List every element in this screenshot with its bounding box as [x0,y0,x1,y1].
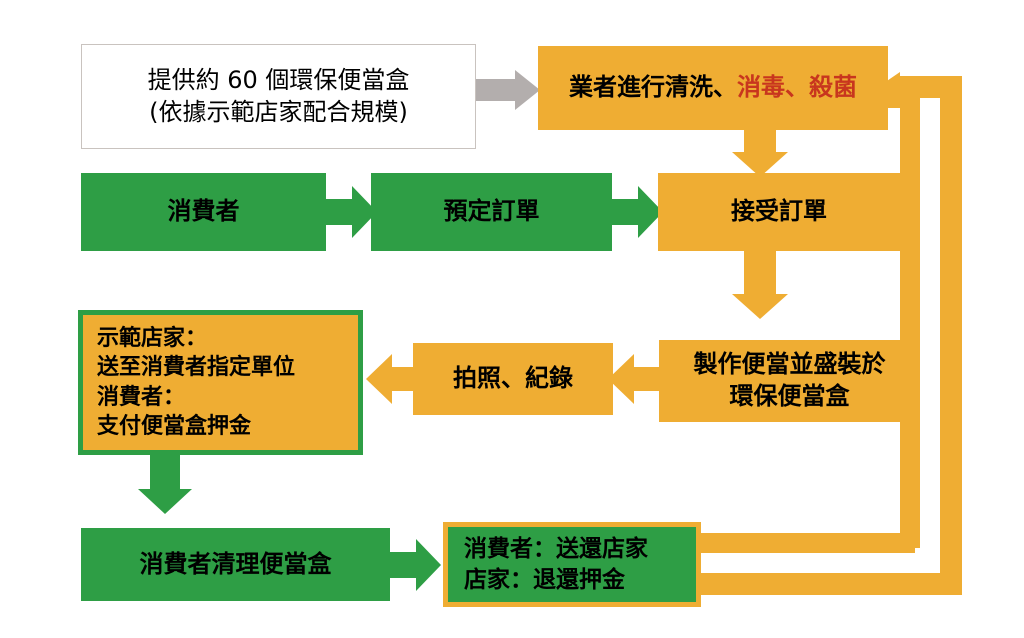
node-return-refund-line2: 店家：退還押金 [464,565,625,595]
node-deliver-deposit-line2: 送至消費者指定單位 [97,353,295,382]
connector-make-loop-vertical [900,108,920,548]
connector-accept-to-make-arrowhead [732,294,788,319]
node-consumer-label: 消費者 [168,196,240,228]
node-return-refund[interactable]: 消費者：送還店家 店家：退還押金 [443,522,701,607]
node-supply-boxes[interactable]: 提供約 60 個環保便當盒 (依據示範店家配合規模) [81,44,476,149]
connector-accept-to-make-shaft [744,250,776,298]
node-accept-order[interactable]: 接受訂單 [658,173,900,251]
connector-deliver-to-clean-arrowhead [138,489,192,514]
node-make-meal-line1: 製作便當並盛裝於 [694,349,886,381]
node-supply-boxes-line1: 提供約 60 個環保便當盒 [148,65,410,97]
node-vendor-clean-prefix: 業者進行清洗、 [569,73,737,101]
connector-return-loop-vertical [940,76,962,586]
node-vendor-clean[interactable]: 業者進行清洗、消毒、殺菌 [538,46,888,130]
connector-clean-to-return-arrowhead [416,539,441,591]
node-consumer-clean[interactable]: 消費者清理便當盒 [81,528,390,601]
node-deliver-deposit-line4: 支付便當盒押金 [97,412,251,441]
node-place-order[interactable]: 預定訂單 [371,173,612,251]
node-make-meal[interactable]: 製作便當並盛裝於 環保便當盒 [659,340,920,422]
connector-return-loop-bottom [700,573,962,595]
node-return-refund-line1: 消費者：送還店家 [464,534,648,564]
node-deliver-deposit-line1: 示範店家： [97,324,207,353]
node-consumer-clean-label: 消費者清理便當盒 [140,549,332,581]
node-photo-record-label: 拍照、紀錄 [453,363,573,395]
node-vendor-clean-highlight: 消毒、殺菌 [737,73,857,101]
node-deliver-deposit[interactable]: 示範店家： 送至消費者指定單位 消費者： 支付便當盒押金 [78,310,363,455]
connector-deliver-to-clean-shaft [150,455,180,493]
node-vendor-clean-text: 業者進行清洗、消毒、殺菌 [569,72,857,104]
node-accept-order-label: 接受訂單 [731,196,827,228]
node-deliver-deposit-line3: 消費者： [97,383,185,412]
connector-photo-to-deliver-arrowhead [366,354,392,404]
connector-supply-to-vendor-arrowhead [515,70,540,110]
node-make-meal-line2: 環保便當盒 [730,381,850,413]
node-supply-boxes-line2: (依據示範店家配合規模) [149,97,408,129]
node-photo-record[interactable]: 拍照、紀錄 [413,343,613,415]
flowchart-canvas: 提供約 60 個環保便當盒 (依據示範店家配合規模) 業者進行清洗、消毒、殺菌 … [0,0,1024,638]
node-place-order-label: 預定訂單 [444,196,540,228]
node-consumer[interactable]: 消費者 [81,173,326,251]
connector-supply-to-vendor-shaft [472,79,517,101]
connector-make-loop-bottom [700,533,915,553]
